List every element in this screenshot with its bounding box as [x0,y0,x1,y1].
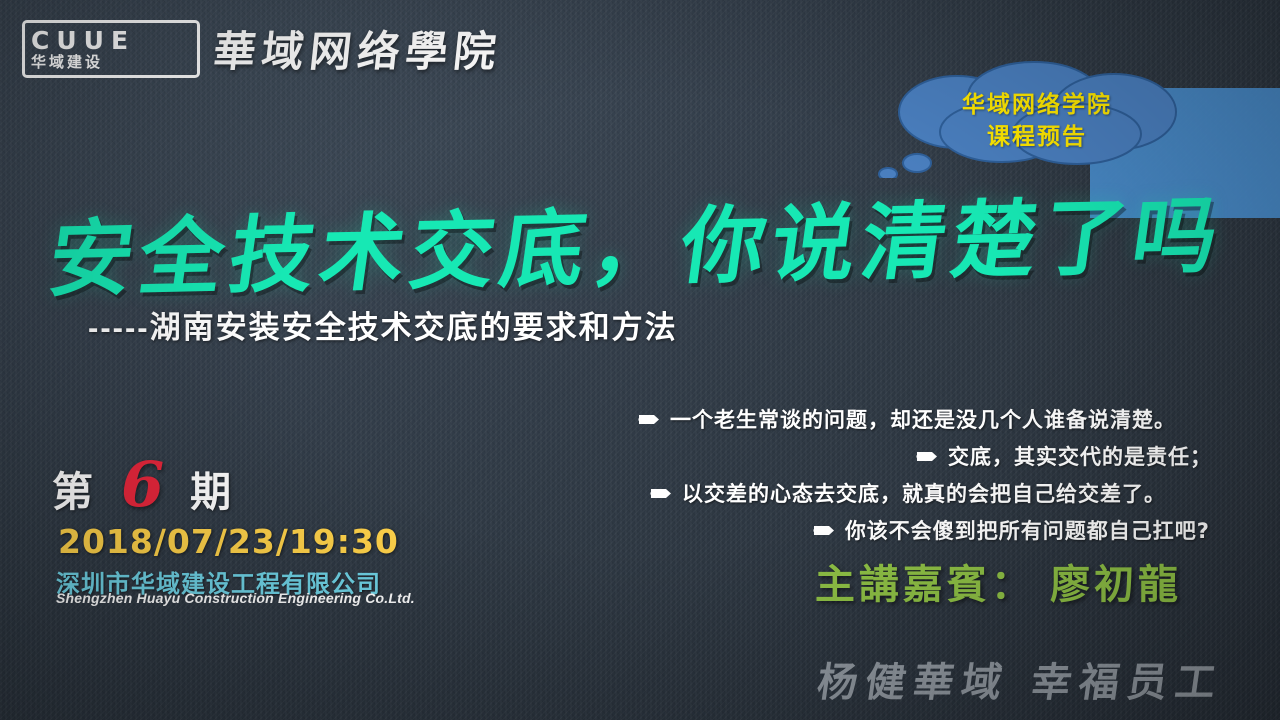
list-item-label: 交底，其实交代的是责任； [948,441,1212,471]
speaker-label: 主講嘉賓： [815,563,1035,607]
company-name-en: Shengzhen Huayu Construction Engineering… [56,590,415,606]
list-item-label: 一个老生常谈的问题，却还是没几个人谁备说清楚。 [670,404,1176,434]
highlight-list: 一个老生常谈的问题，却还是没几个人谁备说清楚。 交底，其实交代的是责任； 以交差… [638,404,1218,552]
list-item-label: 你该不会傻到把所有问题都自己扛吧? [845,515,1210,545]
page-title: 安全技术交底，你说清楚了吗 [42,171,1092,314]
cloud-line-1: 华域网络学院 [862,88,1212,120]
cloud-bubble-text: 华域网络学院 课程预告 [862,88,1212,152]
speaker-line: 主講嘉賓： 廖初龍 [815,552,1182,610]
event-datetime: 2018/07/23/19:30 [58,522,399,561]
issue-prefix: 第 [52,458,95,518]
issue-number-block: 第 6 期 [52,448,233,521]
logo-mark: CUUE 华域建设 [22,20,200,78]
logo-name-text: 華域网络學院 [211,18,505,79]
announcement-cloud-bubble: 华域网络学院 课程预告 [862,60,1212,178]
list-item: 一个老生常谈的问题，却还是没几个人谁备说清楚。 [638,404,1218,434]
speaker-name: 廖初龍 [1050,563,1182,607]
flag-bullet-icon [813,524,835,537]
logo-mark-top-text: CUUE [31,28,191,53]
flag-bullet-icon [638,413,660,426]
list-item: 你该不会傻到把所有问题都自己扛吧? [638,515,1218,545]
list-item: 以交差的心态去交底，就真的会把自己给交差了。 [638,478,1218,508]
footer-slogan: 杨健華域 幸福员工 [814,650,1228,708]
issue-number: 6 [121,448,164,521]
poster-canvas: CUUE 华域建设 華域网络學院 华域网络学院 课程预告 安全技术交底，你说清楚… [0,0,1280,720]
brand-logo: CUUE 华域建设 華域网络學院 [22,18,502,79]
logo-mark-bottom-text: 华域建设 [31,55,191,70]
list-item-label: 以交差的心态去交底，就真的会把自己给交差了。 [682,478,1166,508]
cloud-line-2: 课程预告 [862,120,1212,152]
flag-bullet-icon [650,487,672,500]
flag-bullet-icon [916,450,938,463]
list-item: 交底，其实交代的是责任； [638,441,1218,471]
issue-suffix: 期 [190,458,233,518]
page-subtitle: -----湖南安装安全技术交底的要求和方法 [88,302,678,347]
